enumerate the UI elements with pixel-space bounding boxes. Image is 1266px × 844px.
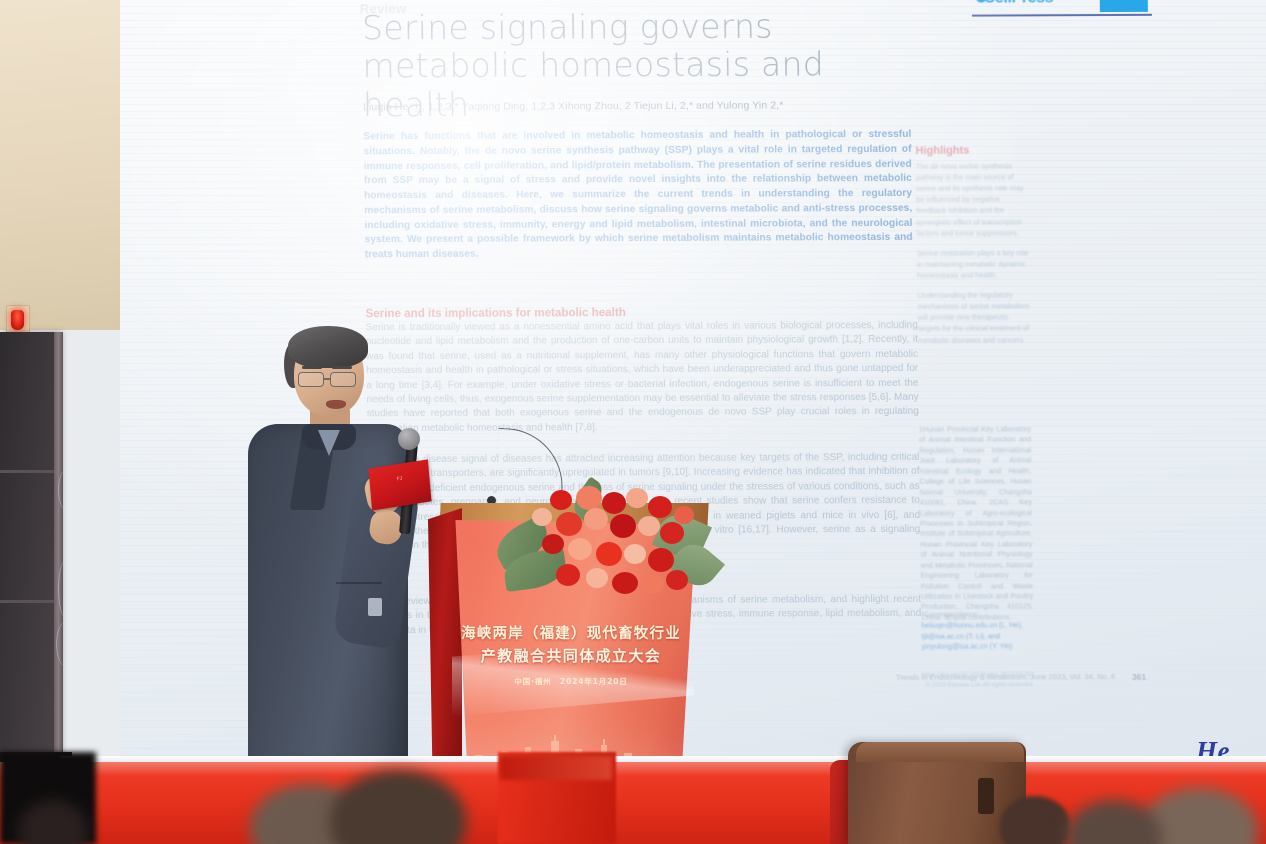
podium-banner-date: 中国·福州 2024年1月20日 — [452, 676, 690, 687]
highlight-item: The de novo serine synthesis pathway is … — [916, 160, 1029, 238]
bouquet-flower — [624, 544, 646, 564]
bouquet-flower — [550, 490, 572, 510]
bouquet-flower — [612, 572, 638, 594]
bouquet-flower — [666, 570, 688, 590]
stage-banner-text-blur — [500, 756, 612, 780]
presenter-hair — [288, 326, 368, 368]
presenter-eyebrow — [302, 366, 322, 369]
body-paragraph-1: Serine is traditionally viewed as a none… — [366, 319, 919, 437]
bouquet-flower — [586, 568, 608, 588]
presenter-eyebrow — [332, 366, 352, 369]
abstract-text: Serine has functions that are involved i… — [363, 128, 913, 263]
presenter-mouth — [326, 400, 346, 409]
bouquet-flower — [596, 542, 622, 566]
bouquet-flower — [556, 512, 582, 536]
correspondence-label: *Correspondence: — [921, 609, 1033, 620]
doi-link: https://doi.org/10.1016/j.tem.2023.03.00… — [922, 670, 1034, 680]
bouquet-flower — [660, 522, 684, 544]
bouquet-flower — [638, 516, 660, 536]
correspondence-emails: heliuqin@hunnu.edu.cn (L. He), tjli@isa.… — [921, 620, 1033, 653]
publisher-logo: CellPress — [984, 0, 1054, 8]
speaker-cable — [58, 470, 74, 510]
author-list: Liuqin He ⓘ, 1,2,3,* Yaqiong Ding, 1,2,3… — [363, 97, 943, 115]
name-badge — [368, 598, 382, 616]
correspondence-block: *Correspondence: heliuqin@hunnu.edu.cn (… — [921, 609, 1034, 653]
speaker-seam — [0, 470, 60, 473]
section-heading: Serine and its implications for metaboli… — [365, 305, 885, 320]
podium-banner-line-1: 海峡两岸（福建）现代畜牧行业 — [452, 622, 690, 643]
pa-speaker-stack — [0, 332, 60, 770]
microphone-grille-icon — [398, 428, 420, 450]
highlight-item: Serine restoration plays a key role in m… — [917, 247, 1029, 281]
bouquet-flower — [584, 508, 608, 530]
podium-banner-line-2: 产教融合共同体成立大会 — [452, 645, 690, 666]
monitor-speaker-top — [856, 742, 1024, 762]
bouquet-flower — [602, 492, 626, 514]
bouquet-flower — [626, 488, 648, 508]
emergency-light-icon — [11, 310, 24, 330]
bouquet-flower — [610, 514, 636, 538]
highlight-item: Understanding the regulatory mechanisms … — [917, 289, 1030, 345]
bouquet-flower — [542, 534, 564, 554]
speaker-stack-edge — [54, 332, 63, 770]
highlights-rail: Highlights The de novo serine synthesis … — [916, 144, 1031, 354]
bouquet-flower — [576, 486, 602, 510]
doi-footer: https://doi.org/10.1016/j.tem.2023.03.00… — [922, 670, 1034, 690]
microphone-flag-label: FJ — [373, 472, 425, 487]
highlights-heading: Highlights — [916, 144, 1028, 156]
monitor-speaker-handle — [978, 778, 994, 814]
carpet-highlight — [0, 762, 1266, 776]
copyright-line: © 2023 Elsevier Ltd. All rights reserved… — [922, 680, 1034, 690]
bouquet-flower — [648, 496, 672, 518]
presenter-figure — [240, 326, 430, 776]
page-number: 361 — [1132, 672, 1146, 682]
left-wall-panel — [0, 0, 128, 330]
eyeglasses-bridge — [324, 378, 330, 380]
bouquet-flower — [648, 548, 674, 572]
eyeglasses-lens-left — [298, 372, 324, 387]
bouquet-flower — [556, 564, 580, 586]
speaker-seam — [0, 600, 60, 603]
bouquet-flower — [532, 508, 552, 526]
journal-color-block — [1099, 0, 1148, 12]
speaker-cable — [56, 620, 80, 668]
speaker-cable — [58, 560, 74, 618]
flower-bouquet — [498, 486, 714, 606]
bouquet-flower — [674, 506, 694, 524]
eyeglasses-lens-right — [330, 372, 356, 387]
conference-photo: Review OA CellPress Serine signaling gov… — [0, 0, 1266, 844]
affiliations-text: 1Hunan Provincial Key Laboratory of Anim… — [919, 424, 1033, 623]
bouquet-flower — [642, 574, 664, 594]
bouquet-flower — [568, 538, 592, 560]
jacket-pocket — [336, 582, 382, 584]
